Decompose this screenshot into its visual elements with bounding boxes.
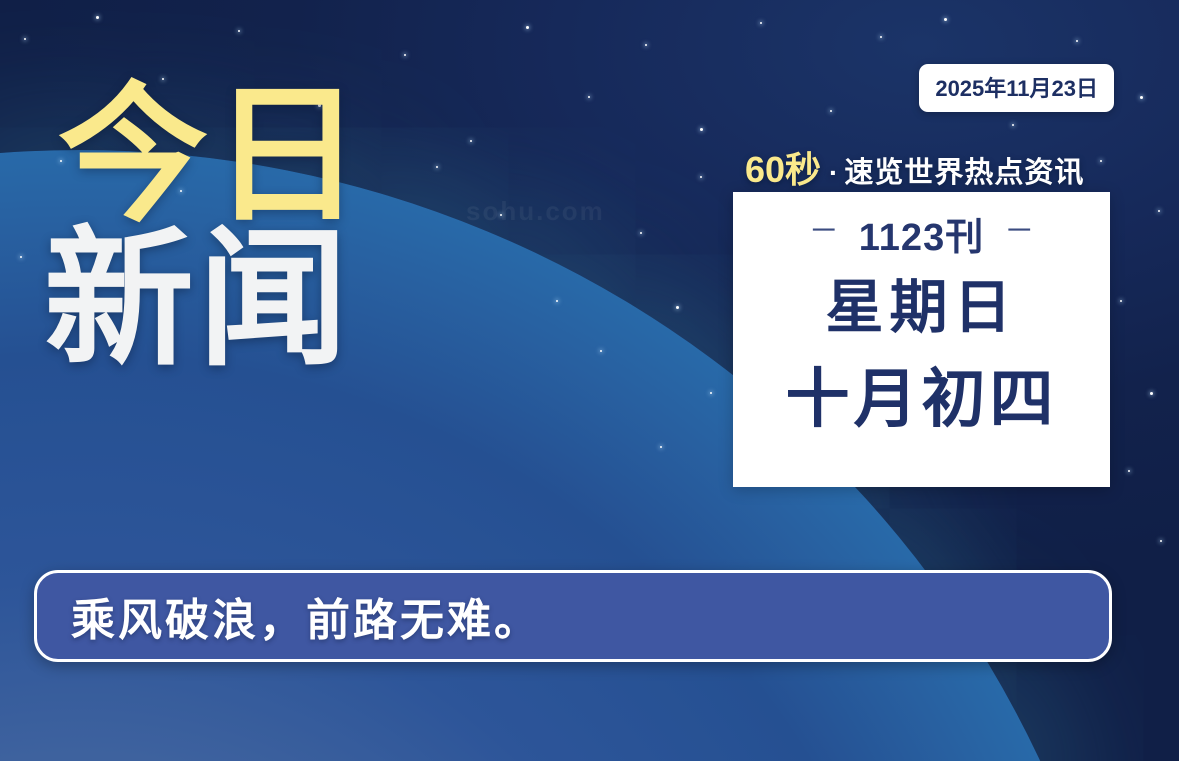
- issue-number: 1123刊: [859, 206, 984, 261]
- tagline: 60秒 · 速览世界热点资讯: [745, 141, 1084, 193]
- date-badge: 2025年11月23日: [919, 64, 1114, 112]
- issue-dash-right: －: [1004, 217, 1034, 247]
- tagline-separator: ·: [829, 157, 838, 189]
- weekday-label: 星期日: [825, 279, 1017, 337]
- news-poster: sohu.com 今日 新闻 2025年11月23日 60秒 · 速览世界热点资…: [0, 0, 1179, 761]
- tagline-text: 速览世界热点资讯: [844, 149, 1084, 191]
- title-line-today: 今日: [58, 88, 366, 224]
- tagline-seconds: 60秒: [745, 141, 821, 193]
- poster-title: 今日 新闻: [44, 88, 366, 368]
- issue-row: － 1123刊 －: [809, 206, 1034, 261]
- lunar-date-label: 十月初四: [786, 367, 1058, 431]
- slogan-banner: 乘风破浪，前路无难。: [34, 570, 1112, 662]
- title-line-news: 新闻: [44, 232, 366, 368]
- slogan-text: 乘风破浪，前路无难。: [71, 584, 541, 648]
- issue-info-card: － 1123刊 － 星期日 十月初四: [733, 192, 1110, 487]
- issue-dash-left: －: [809, 217, 839, 247]
